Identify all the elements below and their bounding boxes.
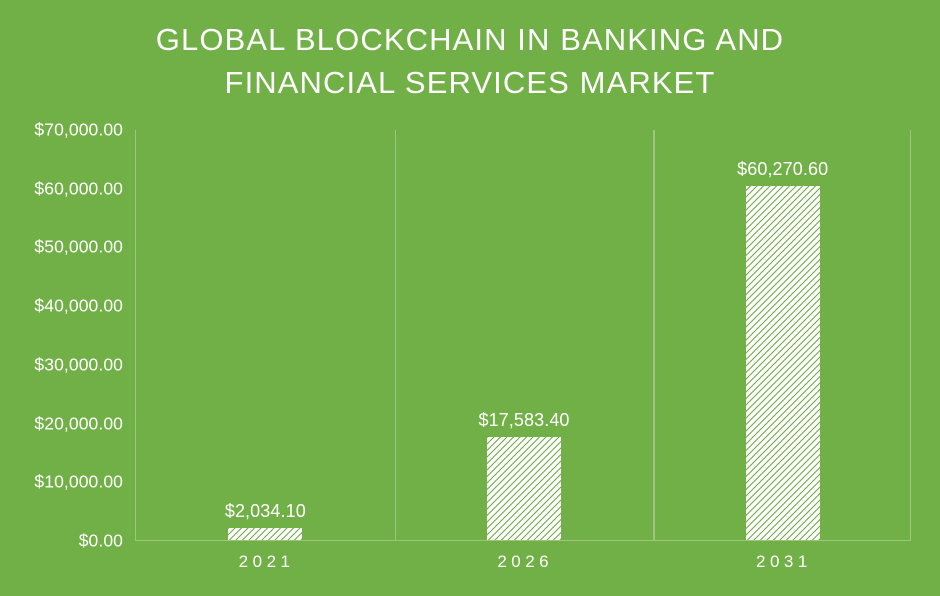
y-axis: $0.00$10,000.00$20,000.00$30,000.00$40,0…	[0, 130, 123, 541]
y-tick-label: $40,000.00	[0, 296, 123, 317]
chart-container: GLOBAL BLOCKCHAIN IN BANKING AND FINANCI…	[0, 0, 940, 596]
bar-2026[interactable]	[487, 437, 561, 540]
x-tick-label: 2026	[394, 552, 653, 572]
bar-value-label: $60,270.60	[737, 159, 828, 180]
category-gridline	[395, 130, 397, 540]
x-tick-label: 2031	[652, 552, 911, 572]
x-axis: 202120262031	[135, 552, 911, 586]
bar-2031[interactable]	[746, 186, 820, 540]
bar-2021[interactable]	[228, 528, 302, 540]
x-tick-label: 2021	[135, 552, 394, 572]
y-tick-label: $0.00	[0, 531, 123, 552]
y-tick-label: $50,000.00	[0, 237, 123, 258]
y-tick-label: $20,000.00	[0, 413, 123, 434]
y-tick-label: $70,000.00	[0, 120, 123, 141]
chart-title: GLOBAL BLOCKCHAIN IN BANKING AND FINANCI…	[0, 18, 940, 104]
plot-area: $2,034.10$17,583.40$60,270.60	[135, 130, 911, 541]
y-tick-label: $30,000.00	[0, 354, 123, 375]
y-tick-label: $60,000.00	[0, 178, 123, 199]
category-gridline	[653, 130, 655, 540]
bar-value-label: $17,583.40	[478, 410, 569, 431]
y-tick-label: $10,000.00	[0, 472, 123, 493]
bar-value-label: $2,034.10	[225, 501, 306, 522]
